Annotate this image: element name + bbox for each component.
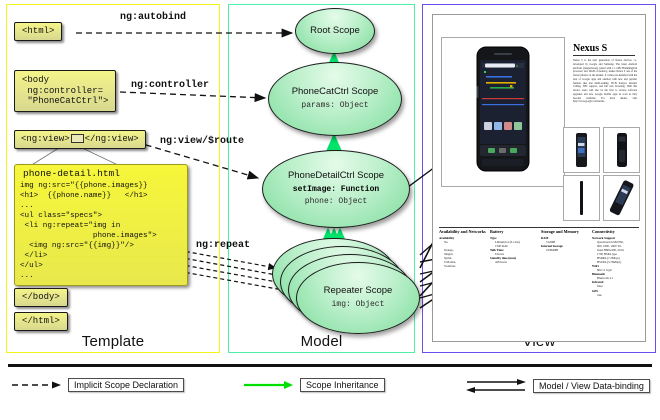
spec-column-header: Connectivity xyxy=(592,229,641,234)
edge-label-repeat: ng:repeat xyxy=(196,240,250,251)
spec-table-rule xyxy=(439,227,639,228)
spec-column: Battery Type Lithium Ion (Li-Ion) 1500 m… xyxy=(490,229,539,297)
scope-phonedetailctrl: PhoneDetailCtrl Scope setImage: Function… xyxy=(262,150,410,228)
scope-repeater-prop: img: Object xyxy=(332,300,385,310)
spec-row-value: 16384MB xyxy=(541,248,590,252)
html-tag-box: <html> xyxy=(14,22,62,41)
hero-image-frame xyxy=(441,37,565,187)
edge-label-autobind: ng:autobind xyxy=(120,12,186,23)
ngview-open-label: <ng:view> xyxy=(21,134,70,144)
html-end-tag-box: </html> xyxy=(14,312,68,331)
legend-item-scope-inheritance: Scope Inheritance xyxy=(242,378,385,392)
thumbnail-1[interactable] xyxy=(563,127,600,173)
scope-phonecatctrl-prop: params: Object xyxy=(301,101,368,111)
nexus-s-phone-image xyxy=(476,46,530,172)
spec-column-header: Battery xyxy=(490,229,539,234)
phone-detail-note-title: phone-detail.html xyxy=(15,165,187,180)
ngview-slot-icon xyxy=(71,134,84,143)
edge-label-ngview-route: ng:view/$route xyxy=(160,136,244,147)
panel-template-label: Template xyxy=(7,333,219,350)
scope-repeater-stack: Repeater Scope img: Object xyxy=(272,238,418,338)
scope-root: Root Scope xyxy=(295,8,375,54)
legend-item-data-binding: Model / View Data-binding xyxy=(465,378,650,394)
legend-label: Scope Inheritance xyxy=(300,378,385,392)
spec-row-value: SG Orange, Singtel, Sprint, T-Mobile, Vo… xyxy=(439,240,488,268)
ngview-tag-box: <ng:view></ng:view> xyxy=(14,130,146,149)
rendered-view-page: Nexus S Nexus S is the next generation o… xyxy=(432,14,646,342)
scope-phonecatctrl-name: PhoneCatCtrl Scope xyxy=(292,87,379,98)
phone-detail-note: phone-detail.html img ng:src="{{phone.im… xyxy=(14,164,188,286)
thumbnail-2[interactable] xyxy=(603,127,640,173)
spec-column-header: Storage and Memory xyxy=(541,229,590,234)
view-page-body: Nexus S is the next generation of Nexus … xyxy=(573,59,637,104)
diagram-root: Template Model View xyxy=(0,0,660,420)
phone-detail-note-code: img ng:src="{{phone.images}} <h1> {{phon… xyxy=(15,180,187,285)
spec-column-header: Availability and Networks xyxy=(439,229,488,234)
scope-phonedetailctrl-prop-setimage: setImage: Function xyxy=(293,185,379,195)
setimage-text: setImage: Function xyxy=(293,185,379,194)
legend-label: Implicit Scope Declaration xyxy=(68,378,184,392)
green-arrow-icon xyxy=(242,379,294,391)
dashed-arrow-icon xyxy=(10,379,62,391)
spec-column: Storage and Memory RAM 512MB Internal St… xyxy=(541,229,590,297)
spec-column: Connectivity Network Support Quad-band G… xyxy=(592,229,641,297)
scope-repeater: Repeater Scope img: Object xyxy=(296,262,420,334)
body-end-tag-box: </body> xyxy=(14,288,68,307)
thumbnail-3[interactable] xyxy=(563,175,600,221)
spec-column: Availability and Networks Availability S… xyxy=(439,229,488,297)
view-page-title: Nexus S xyxy=(573,43,635,56)
edge-label-controller: ng:controller xyxy=(131,80,209,91)
scope-repeater-name: Repeater Scope xyxy=(324,286,393,297)
scope-phonedetailctrl-name: PhoneDetailCtrl Scope xyxy=(288,171,384,182)
thumbnail-4[interactable] xyxy=(603,175,640,221)
legend-divider xyxy=(8,364,652,367)
scope-phonecatctrl: PhoneCatCtrl Scope params: Object xyxy=(268,62,402,136)
spec-row-value: 428 hours xyxy=(490,260,539,264)
spec-row-value: true xyxy=(592,293,641,297)
legend-label: Model / View Data-binding xyxy=(533,379,650,393)
spec-row-value: Quad-band GSM 850, 900, 1800, 1900 Tri- … xyxy=(592,240,641,264)
spec-row-value: Lithium Ion (Li-Ion) 1500 mAh xyxy=(490,240,539,248)
scope-root-name: Root Scope xyxy=(310,26,360,37)
double-arrow-icon xyxy=(465,378,527,394)
legend-item-implicit-scope: Implicit Scope Declaration xyxy=(10,378,184,392)
spec-table: Availability and Networks Availability S… xyxy=(439,229,641,297)
body-tag-box: <body ng:controller= "PhoneCatCtrl"> xyxy=(14,70,116,112)
ngview-close-label: </ng:view> xyxy=(85,134,139,144)
scope-phonedetailctrl-prop-phone: phone: Object xyxy=(305,197,367,207)
legend: Implicit Scope Declaration Scope Inherit… xyxy=(0,374,660,404)
